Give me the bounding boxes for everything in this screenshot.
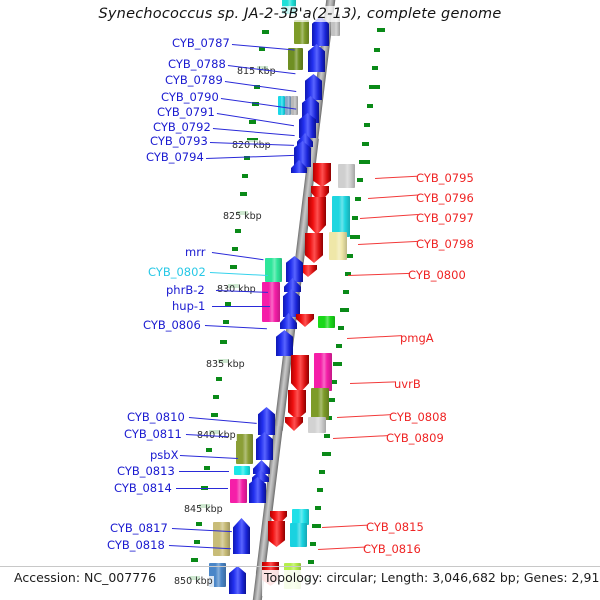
tick-dash	[213, 395, 219, 399]
gene-arrow-fwd-14[interactable]	[258, 407, 275, 435]
gene-box-khaki-2[interactable]	[213, 522, 230, 556]
gene-label-cyb-0809[interactable]: CYB_0809	[386, 431, 444, 445]
tick-dash	[194, 540, 200, 544]
gene-box-cyan-1[interactable]	[282, 0, 296, 14]
leader-line	[350, 381, 396, 384]
gene-arrow-fwd-20[interactable]	[229, 566, 246, 594]
scale-label-text: 825 kbp	[222, 211, 263, 222]
scale-label: 845 kbp	[183, 504, 224, 515]
leader-line	[176, 488, 228, 489]
status-divider	[0, 566, 600, 567]
tick-dash	[322, 452, 331, 456]
tick-dash	[211, 413, 218, 417]
gene-label-cyb-0793[interactable]: CYB_0793	[150, 134, 208, 148]
leader-line	[210, 272, 268, 276]
tick-dash	[374, 48, 380, 52]
gene-label-cyb-0787[interactable]: CYB_0787	[172, 36, 230, 50]
gene-label-cyb-0798[interactable]: CYB_0798	[416, 237, 474, 251]
leader-line	[225, 81, 296, 92]
tick-dash	[340, 308, 349, 312]
tick-dash	[206, 448, 212, 452]
scale-label: 825 kbp	[222, 211, 263, 222]
gene-box-green-1[interactable]	[318, 316, 335, 328]
tick-dash	[324, 434, 330, 438]
gene-label-cyb-0791[interactable]: CYB_0791	[157, 105, 215, 119]
gene-label-cyb-0818[interactable]: CYB_0818	[107, 538, 165, 552]
scale-label-text: 820 kbp	[231, 140, 272, 151]
tick-dash	[196, 522, 202, 526]
gene-arrow-rev-1[interactable]	[313, 163, 331, 187]
gene-label-cyb-0802[interactable]: CYB_0802	[148, 265, 206, 279]
leader-line	[212, 252, 264, 260]
gene-box-olive-1[interactable]	[294, 20, 309, 44]
gene-label-cyb-0816[interactable]: CYB_0816	[363, 542, 421, 556]
tick-dash	[204, 466, 210, 470]
gene-label-cyb-0800[interactable]: CYB_0800	[408, 268, 466, 282]
gene-label-mrr[interactable]: mrr	[185, 245, 205, 259]
gene-label-cyb-0817[interactable]: CYB_0817	[110, 521, 168, 535]
gene-arrow-fwd-15[interactable]	[256, 432, 273, 460]
genome-summary-status: Topology: circular; Length: 3,046,682 bp…	[262, 570, 600, 596]
leader-line	[337, 414, 391, 418]
tick-dash	[329, 398, 335, 402]
accession-status: Accession: NC_007776	[12, 570, 158, 596]
gene-arrow-rev-4[interactable]	[305, 233, 323, 263]
gene-box-gray-4[interactable]	[308, 417, 326, 433]
gene-label-phrb-2[interactable]: phrB-2	[166, 283, 205, 297]
leader-line	[322, 525, 368, 528]
gene-label-cyb-0811[interactable]: CYB_0811	[124, 427, 182, 441]
tick-dash	[315, 506, 321, 510]
gene-label-psbx[interactable]: psbX	[150, 448, 178, 462]
gene-label-cyb-0813[interactable]: CYB_0813	[117, 464, 175, 478]
gene-box-gray-1[interactable]	[331, 14, 340, 36]
tick-dash	[308, 560, 314, 564]
gene-label-cyb-0796[interactable]: CYB_0796	[416, 191, 474, 205]
scale-label-text: 850 kbp	[173, 576, 214, 587]
leader-line	[348, 273, 410, 276]
genome-map-canvas[interactable]: 815 kbp820 kbp825 kbp830 kbp835 kbp840 k…	[0, 0, 600, 600]
tick-dash	[317, 488, 323, 492]
gene-box-spring-1[interactable]	[265, 258, 282, 282]
gene-box-khaki-1[interactable]	[329, 232, 347, 260]
gene-box-gray-2[interactable]	[291, 96, 298, 115]
gene-label-cyb-0792[interactable]: CYB_0792	[153, 120, 211, 134]
leader-line	[360, 214, 418, 219]
gene-label-cyb-0815[interactable]: CYB_0815	[366, 520, 424, 534]
scale-label: 820 kbp	[231, 140, 272, 151]
gene-label-cyb-0814[interactable]: CYB_0814	[114, 481, 172, 495]
tick-dash	[336, 344, 342, 348]
leader-line	[180, 455, 238, 459]
gene-label-cyb-0794[interactable]: CYB_0794	[146, 150, 204, 164]
tick-dash	[359, 160, 370, 164]
tick-dash	[242, 174, 248, 178]
tick-dash	[319, 470, 325, 474]
tick-dash	[333, 362, 342, 366]
gene-label-cyb-0795[interactable]: CYB_0795	[416, 171, 474, 185]
tick-dash	[369, 85, 380, 89]
gene-label-uvrb[interactable]: uvrB	[394, 377, 421, 391]
leader-line	[205, 325, 267, 329]
scale-label-text: 845 kbp	[183, 504, 224, 515]
gene-arrow-rev-8[interactable]	[288, 390, 306, 420]
tick-dash	[312, 524, 321, 528]
gene-box-cyan-6[interactable]	[290, 523, 307, 547]
leader-line	[347, 335, 402, 339]
gene-label-hup-1[interactable]: hup-1	[172, 299, 205, 313]
tick-dash	[367, 104, 373, 108]
tick-dash	[355, 197, 361, 201]
tick-dash	[230, 265, 237, 269]
gene-box-magenta-3[interactable]	[230, 479, 247, 503]
leader-line	[213, 128, 295, 136]
tick-dash	[216, 377, 222, 381]
tick-dash	[262, 30, 269, 34]
tick-dash	[310, 542, 316, 546]
scale-label: 835 kbp	[205, 359, 246, 370]
leader-line	[358, 241, 418, 245]
tick-dash	[352, 216, 358, 220]
tick-dash	[223, 320, 229, 324]
scale-label-text: 835 kbp	[205, 359, 246, 370]
tick-dash	[235, 229, 241, 233]
tick-dash	[350, 235, 360, 239]
gene-label-cyb-0810[interactable]: CYB_0810	[127, 410, 185, 424]
leader-line	[375, 176, 417, 179]
leader-line	[189, 417, 257, 424]
gene-box-magenta-2[interactable]	[314, 353, 332, 391]
gene-box-cyan-4[interactable]	[234, 466, 250, 475]
tick-dash	[191, 558, 198, 562]
gene-label-cyb-0790[interactable]: CYB_0790	[161, 90, 219, 104]
gene-arrow-rev-3[interactable]	[308, 197, 326, 235]
gene-box-olive-2[interactable]	[288, 48, 303, 70]
gene-box-olive-3[interactable]	[311, 388, 329, 420]
gene-arrow-rev-6[interactable]	[296, 314, 314, 327]
leader-line	[333, 435, 388, 439]
tick-dash	[338, 326, 344, 330]
tick-dash	[362, 142, 369, 146]
gene-label-cyb-0806[interactable]: CYB_0806	[143, 318, 201, 332]
gene-box-olive-4[interactable]	[236, 434, 253, 464]
tick-dash	[232, 247, 238, 251]
gene-arrow-rev-11[interactable]	[268, 521, 285, 547]
gene-label-pmga[interactable]: pmgA	[400, 331, 434, 345]
gene-arrow-rev-9[interactable]	[285, 417, 303, 431]
gene-label-cyb-0788[interactable]: CYB_0788	[168, 57, 226, 71]
gene-arrow-rev-7[interactable]	[291, 355, 309, 393]
gene-box-cyan-3[interactable]	[332, 196, 350, 237]
leader-line	[179, 471, 229, 472]
gene-label-cyb-0797[interactable]: CYB_0797	[416, 211, 474, 225]
gene-label-cyb-0808[interactable]: CYB_0808	[389, 410, 447, 424]
scale-label: 850 kbp	[173, 576, 214, 587]
gene-arrow-fwd-19[interactable]	[233, 518, 250, 554]
tick-dash	[357, 178, 363, 182]
leader-line	[368, 195, 418, 199]
tick-dash	[343, 290, 349, 294]
leader-line	[212, 306, 270, 307]
tick-dash	[240, 192, 247, 196]
gene-box-gray-3[interactable]	[338, 164, 355, 188]
tick-dash	[347, 254, 353, 258]
gene-label-cyb-0789[interactable]: CYB_0789	[165, 73, 223, 87]
tick-dash	[249, 120, 256, 124]
gene-box-magenta-1[interactable]	[262, 282, 280, 322]
leader-line	[318, 546, 366, 550]
tick-dash	[364, 123, 370, 127]
tick-dash	[220, 340, 227, 344]
tick-dash	[372, 66, 378, 70]
tick-dash	[377, 28, 385, 32]
